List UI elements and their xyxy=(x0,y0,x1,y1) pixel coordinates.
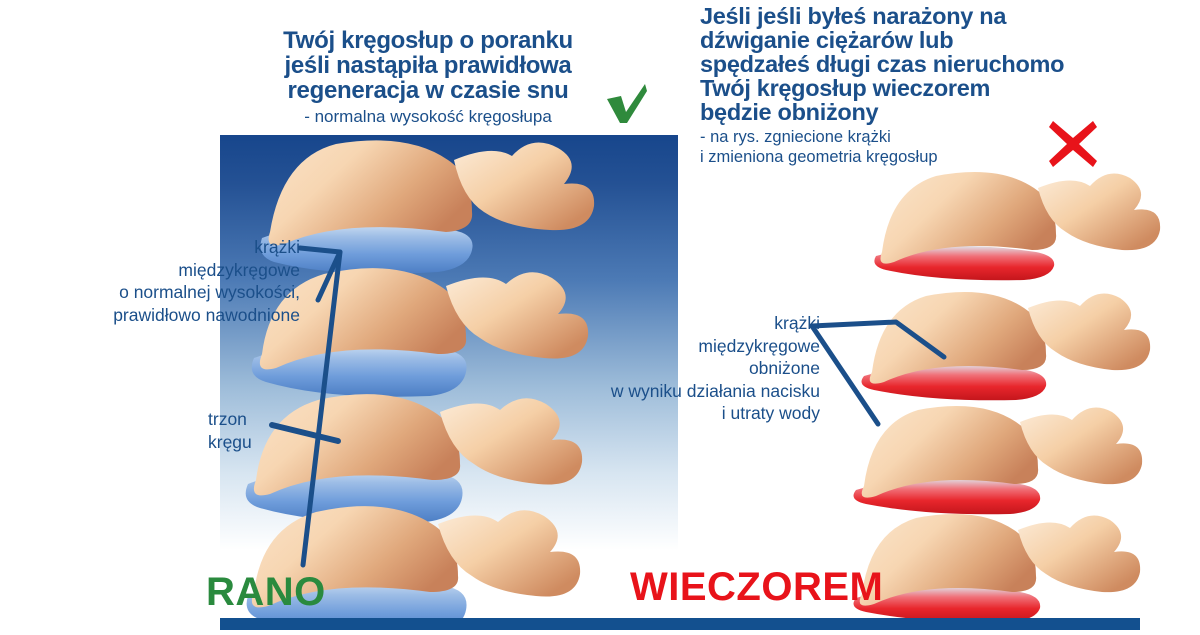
left-title-block: Twój kręgosłup o poranku jeśli nastąpiła… xyxy=(248,28,608,127)
left-title-line-3: regeneracja w czasie snu xyxy=(248,78,608,103)
left-title-line-1: Twój kręgosłup o poranku xyxy=(248,28,608,53)
infographic-stage: Twój kręgosłup o poranku jeśli nastąpiła… xyxy=(0,0,1200,635)
bottom-divider-bar xyxy=(220,618,1140,630)
annotation-left-vertebral-body: trzon kręgu xyxy=(208,408,300,453)
right-title-line-3: spędzałeś długi czas nieruchomo xyxy=(700,52,1120,76)
right-title-line-4: Twój kręgosłup wieczorem xyxy=(700,76,1120,100)
annotation-right-discs-line-3: obniżone xyxy=(530,357,820,380)
annotation-left-discs-line-3: o normalnej wysokości, xyxy=(62,281,300,304)
annotation-right-discs: krążki międzykręgowe obniżone w wyniku d… xyxy=(530,312,820,425)
annotation-left-discs-line-4: prawidłowo nawodnione xyxy=(62,304,300,327)
vertebra-1 xyxy=(269,140,595,245)
annotation-right-discs-line-4: w wyniku działania nacisku xyxy=(530,380,820,403)
day-label-evening: WIECZOREM xyxy=(630,565,883,610)
close-icon xyxy=(1046,118,1100,170)
annotation-right-discs-line-2: międzykręgowe xyxy=(530,335,820,358)
annotation-left-discs-line-2: międzykręgowe xyxy=(62,259,300,282)
check-icon xyxy=(604,82,650,126)
left-title-line-2: jeśli nastąpiła prawidłowa xyxy=(248,53,608,78)
annotation-left-discs: krążki międzykręgowe o normalnej wysokoś… xyxy=(62,236,300,326)
annotation-left-body-line-2: kręgu xyxy=(208,431,300,454)
annotation-right-discs-line-5: i utraty wody xyxy=(530,402,820,425)
annotation-right-discs-line-1: krążki xyxy=(530,312,820,335)
spine-illustration-evening xyxy=(850,160,1180,620)
annotation-left-discs-line-1: krążki xyxy=(62,236,300,259)
annotation-left-body-line-1: trzon xyxy=(208,408,300,431)
right-title-line-2: dźwiganie ciężarów lub xyxy=(700,28,1120,52)
day-label-morning: RANO xyxy=(206,570,326,615)
right-title-line-1: Jeśli jeśli byłeś narażony na xyxy=(700,4,1120,28)
left-subtitle: - normalna wysokość kręgosłupa xyxy=(248,106,608,127)
